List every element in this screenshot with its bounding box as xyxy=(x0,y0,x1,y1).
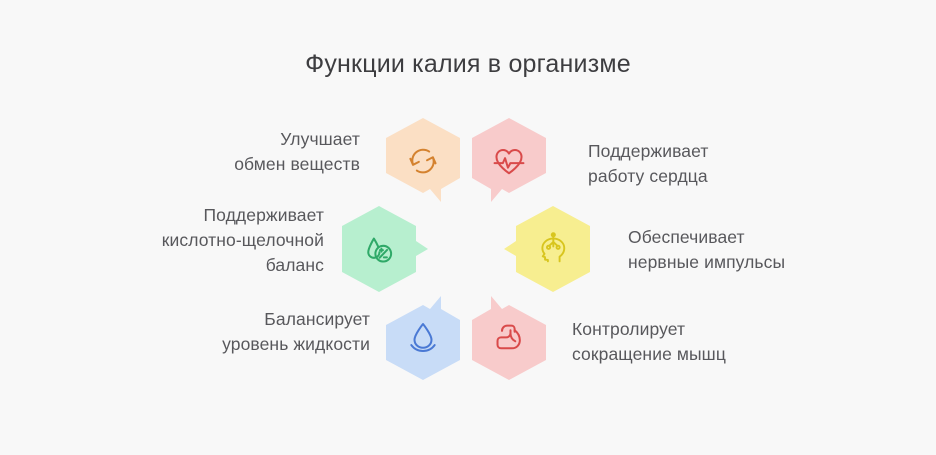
hex-bubble-muscle[interactable] xyxy=(472,294,546,380)
infographic-root: Функции калия в организме xyxy=(0,0,936,455)
label-metabolism: Улучшает обмен веществ xyxy=(100,127,360,177)
hex-bubble-nerve[interactable] xyxy=(516,206,590,292)
hex-bubble-metabolism[interactable] xyxy=(386,118,460,204)
hex-bubble-acid-base[interactable] xyxy=(342,206,416,292)
recycle-arrows-icon xyxy=(386,138,460,184)
ph-drop-icon xyxy=(342,226,416,272)
label-muscle: Контролирует сокращение мышц xyxy=(572,317,872,367)
brain-head-icon xyxy=(516,226,590,272)
hexagon-cluster xyxy=(336,118,566,388)
heart-pulse-icon xyxy=(472,138,546,184)
hex-bubble-heart[interactable] xyxy=(472,118,546,204)
label-nerve: Обеспечивает нервные импульсы xyxy=(628,225,918,275)
label-fluid: Балансирует уровень жидкости xyxy=(70,307,370,357)
flexed-biceps-icon xyxy=(472,314,546,360)
label-acid-base: Поддерживает кислотно-щелочной баланс xyxy=(24,203,324,278)
water-drop-icon xyxy=(386,314,460,360)
page-title: Функции калия в организме xyxy=(0,50,936,79)
label-heart: Поддерживает работу сердца xyxy=(588,139,868,189)
hex-bubble-fluid[interactable] xyxy=(386,294,460,380)
